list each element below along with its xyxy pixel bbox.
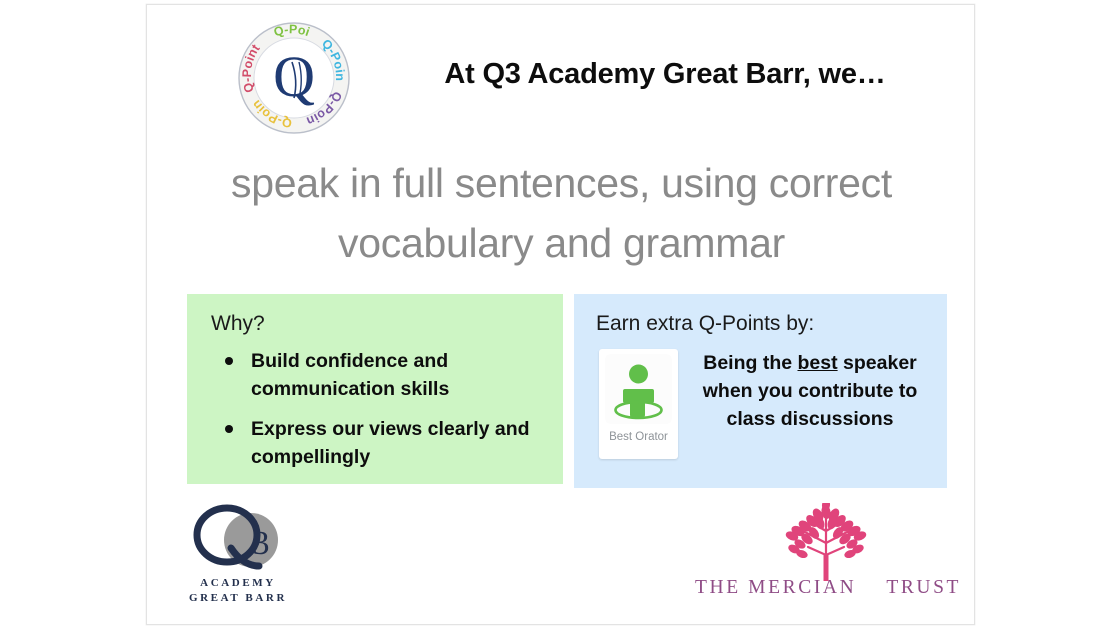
q3-caption-line-2: GREAT BARR — [169, 591, 307, 606]
screenshot-canvas: Q-Point Q-Point Q-Point Q-Point Q-Point … — [0, 0, 1120, 630]
presentation-slide: Q-Point Q-Point Q-Point Q-Point Q-Point … — [146, 4, 975, 625]
q3-academy-great-barr-logo: 3 ACADEMY GREAT BARR — [169, 502, 307, 608]
why-panel-heading: Why? — [211, 312, 265, 336]
svg-text:3: 3 — [253, 525, 270, 562]
slide-header: Q-Point Q-Point Q-Point Q-Point Q-Point … — [147, 5, 976, 141]
why-panel-bullet-list: Build confidence and communication skill… — [209, 348, 549, 484]
main-statement: speak in full sentences, using correct v… — [185, 153, 938, 274]
reward-emphasis: best — [798, 352, 838, 374]
bullet-dot-icon — [225, 357, 233, 365]
list-item: Express our views clearly and compelling… — [209, 416, 549, 472]
why-bullet-text: Express our views clearly and compelling… — [251, 418, 530, 468]
mercian-word-2: TRUST — [886, 577, 961, 598]
q3-caption-line-1: ACADEMY — [169, 576, 307, 591]
best-orator-badge-card[interactable]: Best Orator — [599, 349, 678, 459]
main-statement-line-1: speak in full sentences, using correct — [185, 153, 938, 213]
main-statement-line-2: vocabulary and grammar — [185, 213, 938, 273]
q3-logo-caption: ACADEMY GREAT BARR — [169, 576, 307, 606]
slide-title: At Q3 Academy Great Barr, we… — [375, 57, 955, 92]
the-mercian-trust-logo: THE MERCIANTRUST — [695, 503, 957, 608]
q-points-reward-text: Being the best speaker when you contribu… — [690, 350, 930, 434]
mercian-word-1: THE MERCIAN — [695, 577, 856, 598]
earn-q-points-panel: Earn extra Q-Points by: Best Orator Bein… — [574, 294, 947, 488]
why-panel: Why? Build confidence and communication … — [187, 294, 563, 484]
best-orator-badge-label: Best Orator — [599, 431, 678, 443]
reward-prefix: Being the — [703, 352, 797, 374]
q-point-roundel-logo: Q-Point Q-Point Q-Point Q-Point Q-Point … — [235, 19, 353, 137]
mercian-trust-wordmark: THE MERCIANTRUST — [695, 577, 957, 599]
list-item: Build confidence and communication skill… — [209, 348, 549, 404]
best-orator-person-icon — [605, 354, 672, 424]
why-bullet-text: Build confidence and communication skill… — [251, 350, 449, 400]
q-points-panel-heading: Earn extra Q-Points by: — [596, 312, 814, 336]
bullet-dot-icon — [225, 425, 233, 433]
svg-text:Q: Q — [273, 44, 315, 109]
